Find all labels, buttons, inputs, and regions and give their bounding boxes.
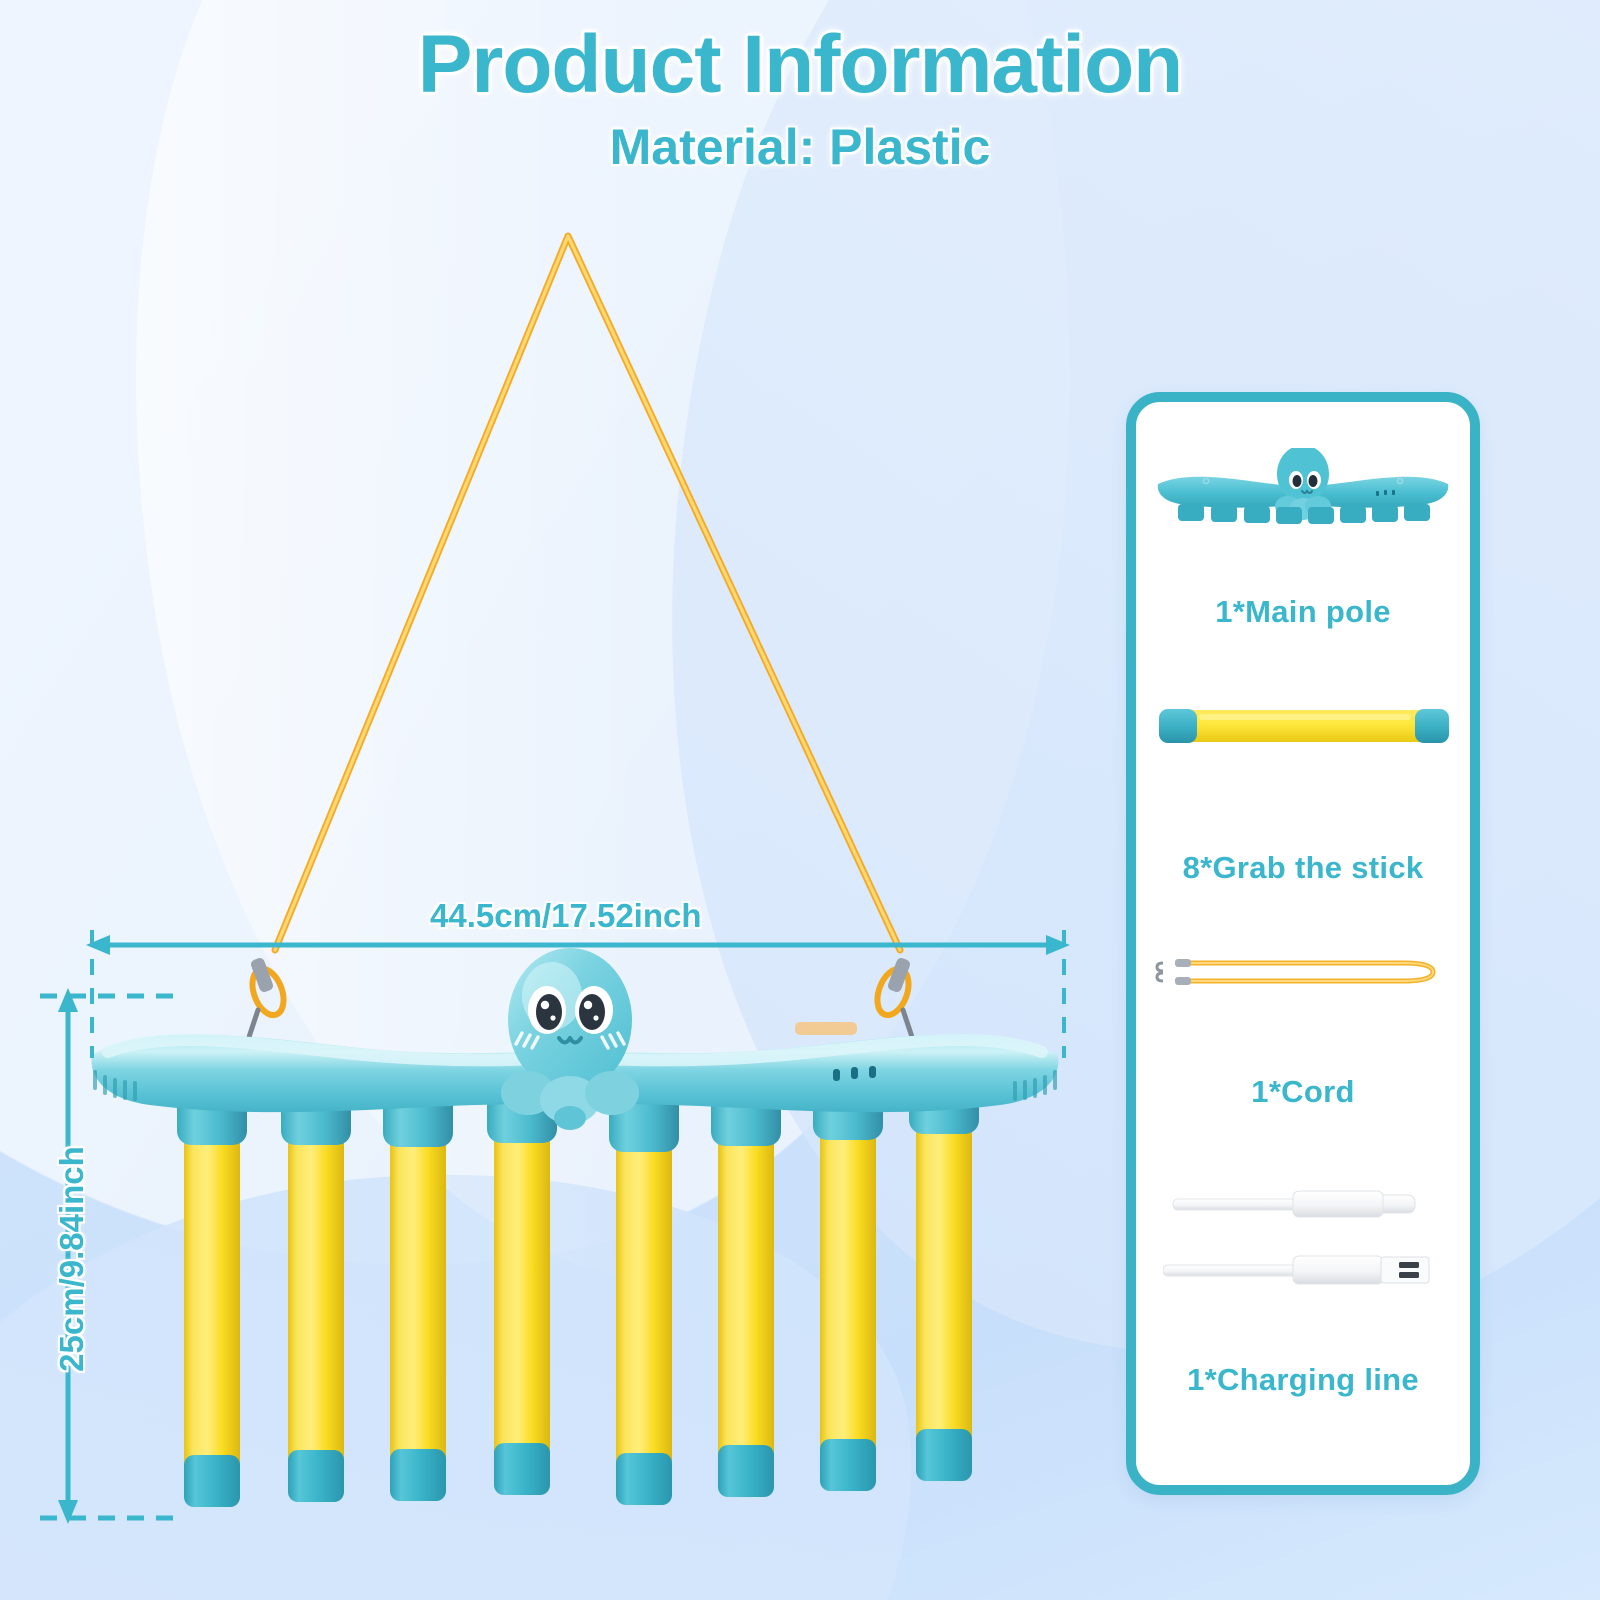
part-image-charging-line: [1136, 1182, 1470, 1292]
part-label-cord: 1*Cord: [1136, 1074, 1470, 1110]
header-block: Product Information Material: Plastic: [0, 22, 1600, 176]
part-image-main-pole: [1136, 448, 1470, 538]
page-subtitle: Material: Plastic: [0, 118, 1600, 176]
page-title: Product Information: [0, 22, 1600, 108]
width-dimension-label: 44.5cm/17.52inch: [430, 897, 702, 935]
usb-cable-icon: [1163, 1182, 1443, 1226]
part-label-main-pole: 1*Main pole: [1136, 594, 1470, 630]
octopus-pole-icon: [1148, 448, 1458, 538]
part-label-charging-line: 1*Charging line: [1136, 1362, 1470, 1398]
cord-loop-icon: [1153, 950, 1453, 994]
part-label-grab-stick: 8*Grab the stick: [1136, 850, 1470, 886]
usb-a-cable-icon: [1163, 1248, 1443, 1292]
product-information-graphic: Product Information Material: Plastic: [0, 0, 1600, 1600]
yellow-stick-icon: [1153, 702, 1453, 750]
parts-list-panel: 1*Main pole 8*Gr: [1126, 392, 1480, 1495]
height-dimension-label: 25cm/9.84inch: [53, 1109, 91, 1409]
part-image-grab-stick: [1136, 702, 1470, 750]
part-image-cord: [1136, 950, 1470, 994]
